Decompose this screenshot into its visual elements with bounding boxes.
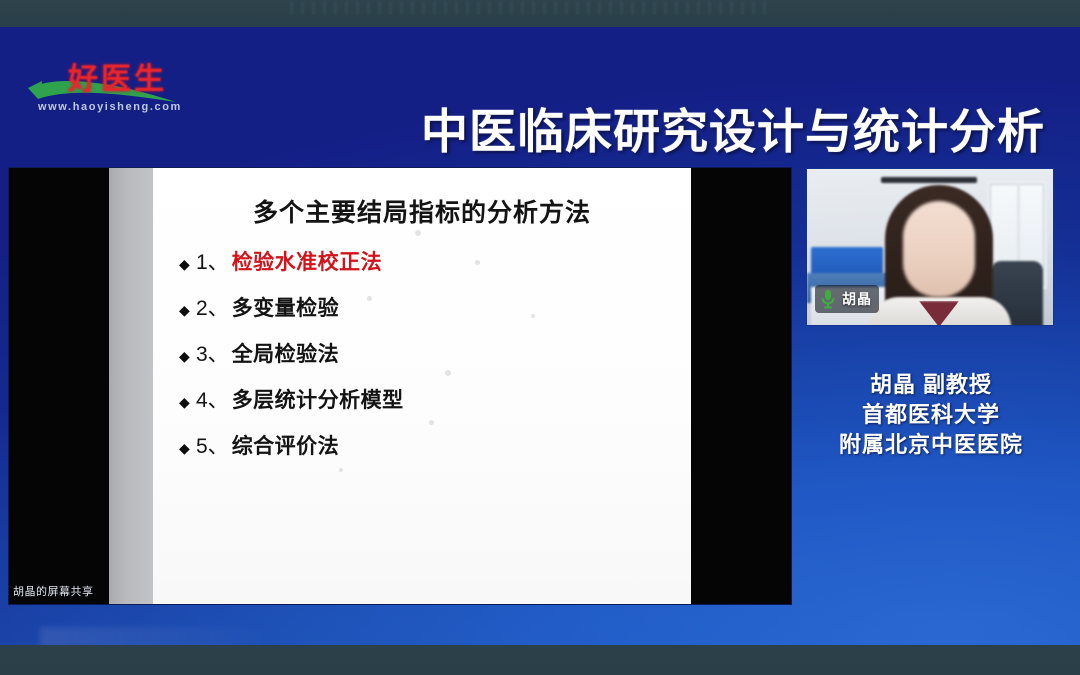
- list-item-number: 4、: [196, 384, 229, 414]
- list-item-number: 3、: [196, 338, 229, 368]
- list-item: ◆ 5、 综合评价法: [179, 430, 679, 476]
- diamond-bullet-icon: ◆: [179, 395, 196, 409]
- microphone-icon: [818, 288, 838, 310]
- list-item-number: 2、: [196, 292, 229, 322]
- presenter-video-tile[interactable]: 胡晶: [806, 168, 1054, 326]
- presentation-slide: 多个主要结局指标的分析方法 ◆ 1、 检验水准校正法 ◆ 2、 多变量检验 ◆ …: [153, 168, 691, 605]
- list-item-label: 多层统计分析模型: [232, 384, 404, 414]
- letterbox-left: [9, 168, 109, 604]
- diamond-bullet-icon: ◆: [179, 303, 196, 317]
- presenter-face: [903, 201, 975, 297]
- list-item-label: 综合评价法: [232, 430, 340, 460]
- list-item: ◆ 1、 检验水准校正法: [179, 246, 679, 292]
- presenter-credits: 胡晶 副教授 首都医科大学 附属北京中医医院: [800, 370, 1062, 460]
- diamond-bullet-icon: ◆: [179, 349, 196, 363]
- slide-bullet-list: ◆ 1、 检验水准校正法 ◆ 2、 多变量检验 ◆ 3、 全局检验法 ◆ 4、: [179, 246, 679, 476]
- page-title: 中医临床研究设计与统计分析: [395, 93, 1045, 162]
- slide-title: 多个主要结局指标的分析方法: [153, 193, 691, 229]
- presenter-name-title: 胡晶 副教授: [800, 370, 1062, 400]
- participant-name: 胡晶: [842, 289, 872, 309]
- list-item: ◆ 3、 全局检验法: [179, 338, 679, 384]
- webinar-stage: 好医生 www.haoyisheng.com 中医临床研究设计与统计分析 多个主…: [0, 0, 1080, 675]
- brand-name-cn: 好医生: [68, 54, 167, 98]
- brand-logo: 好医生 www.haoyisheng.com: [22, 52, 187, 120]
- list-item-label: 全局检验法: [232, 338, 340, 368]
- bottom-letterbox-bar: [0, 645, 1080, 675]
- diamond-bullet-icon: ◆: [179, 257, 196, 271]
- top-letterbox-bar: [0, 0, 1080, 27]
- list-item-number: 1、: [196, 246, 229, 276]
- share-gray-strip: [109, 168, 153, 604]
- presenter-university: 首都医科大学: [800, 400, 1062, 430]
- list-item: ◆ 2、 多变量检验: [179, 292, 679, 338]
- slide-speck: [415, 230, 421, 236]
- list-item-number: 5、: [196, 430, 229, 460]
- ghost-artifact-row: [290, 1, 770, 15]
- video-ceiling-fixture: [881, 177, 977, 183]
- brand-url: www.haoyisheng.com: [38, 101, 182, 113]
- participant-name-badge: 胡晶: [815, 285, 879, 313]
- list-item-label: 多变量检验: [232, 292, 340, 322]
- screen-share-region: 多个主要结局指标的分析方法 ◆ 1、 检验水准校正法 ◆ 2、 多变量检验 ◆ …: [8, 167, 792, 605]
- list-item-label: 检验水准校正法: [232, 246, 383, 276]
- list-item: ◆ 4、 多层统计分析模型: [179, 384, 679, 430]
- letterbox-right: [691, 168, 792, 604]
- screen-share-label: 胡晶的屏幕共享: [13, 583, 94, 599]
- diamond-bullet-icon: ◆: [179, 441, 196, 455]
- presenter-hospital: 附属北京中医医院: [800, 430, 1062, 460]
